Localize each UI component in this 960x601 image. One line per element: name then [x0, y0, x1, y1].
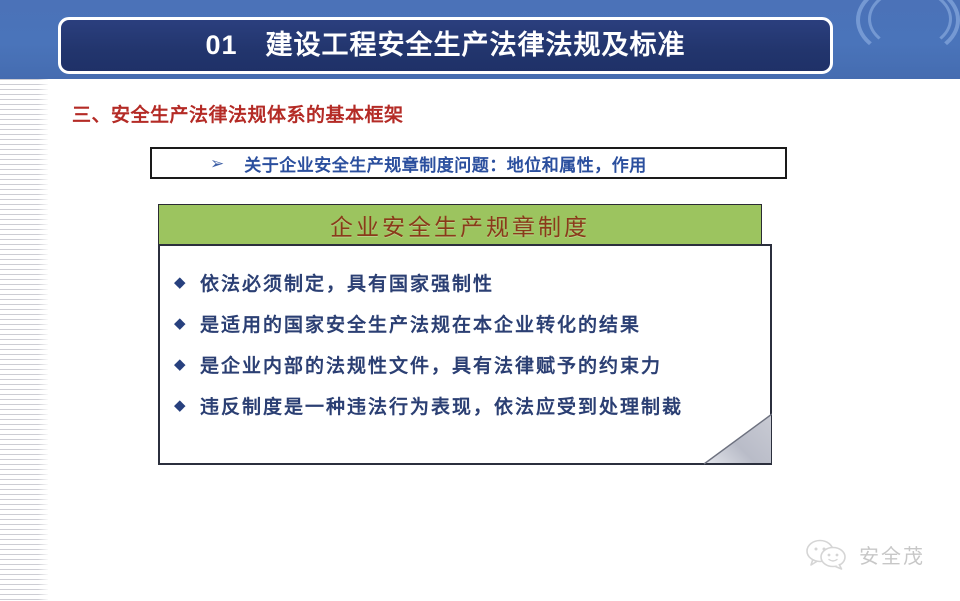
arrow-right-icon: ➢	[210, 155, 224, 172]
slide-title-plate: 01 建设工程安全生产法律法规及标准	[58, 17, 833, 74]
bullet-list: ◆ 依法必须制定，具有国家强制性 ◆ 是适用的国家安全生产法规在本企业转化的结果…	[174, 262, 760, 426]
wechat-bubbles-icon	[805, 538, 849, 570]
list-item: ◆ 是适用的国家安全生产法规在本企业转化的结果	[174, 303, 760, 344]
presentation-slide: 01 建设工程安全生产法律法规及标准 三、安全生产法律法规体系的基本框架 ➢ 关…	[0, 0, 960, 601]
list-item-label: 是企业内部的法规性文件，具有法律赋予的约束力	[200, 351, 662, 378]
green-banner: 企业安全生产规章制度	[158, 204, 762, 245]
sub-header-label: 关于企业安全生产规章制度问题：地位和属性，作用	[244, 151, 647, 176]
green-banner-label: 企业安全生产规章制度	[330, 208, 590, 242]
list-item-label: 违反制度是一种违法行为表现，依法应受到处理制裁	[200, 392, 683, 419]
section-heading: 三、安全生产法律法规体系的基本框架	[72, 100, 404, 127]
page-title: 01 建设工程安全生产法律法规及标准	[205, 32, 685, 59]
list-item: ◆ 违反制度是一种违法行为表现，依法应受到处理制裁	[174, 385, 760, 426]
content-card: ◆ 依法必须制定，具有国家强制性 ◆ 是适用的国家安全生产法规在本企业转化的结果…	[158, 244, 772, 465]
content-card-body: ◆ 依法必须制定，具有国家强制性 ◆ 是适用的国家安全生产法规在本企业转化的结果…	[158, 244, 772, 465]
list-item-label: 依法必须制定，具有国家强制性	[200, 269, 494, 296]
diamond-bullet-icon: ◆	[174, 398, 200, 413]
diamond-bullet-icon: ◆	[174, 357, 200, 372]
watermark: 安全茂	[805, 538, 925, 570]
list-item-label: 是适用的国家安全生产法规在本企业转化的结果	[200, 310, 641, 337]
sub-header-box: ➢ 关于企业安全生产规章制度问题：地位和属性，作用	[150, 147, 787, 179]
list-item: ◆ 依法必须制定，具有国家强制性	[174, 262, 760, 303]
diamond-bullet-icon: ◆	[174, 316, 200, 331]
diamond-bullet-icon: ◆	[174, 275, 200, 290]
watermark-label: 安全茂	[859, 540, 925, 569]
left-stripe-fade	[38, 79, 52, 601]
list-item: ◆ 是企业内部的法规性文件，具有法律赋予的约束力	[174, 344, 760, 385]
